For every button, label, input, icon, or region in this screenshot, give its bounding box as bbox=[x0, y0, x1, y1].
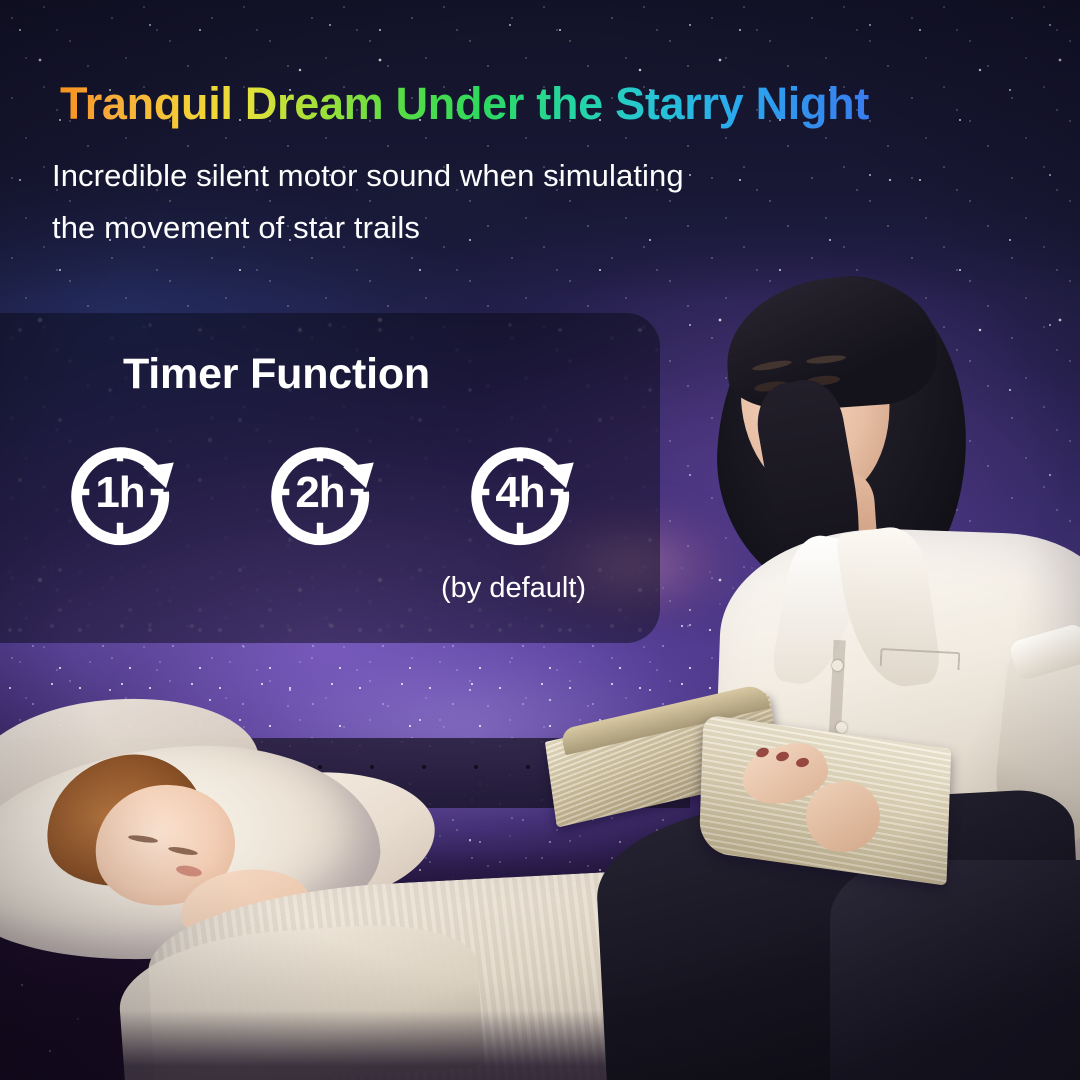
bed-shadow bbox=[0, 1010, 620, 1080]
timer-option-4h[interactable]: 4h bbox=[456, 428, 584, 556]
woman-lap-trousers-2 bbox=[830, 860, 1080, 1080]
timer-option-2h-label: 2h bbox=[256, 428, 384, 556]
subtitle-text: Incredible silent motor sound when simul… bbox=[52, 150, 912, 254]
woman-button-1 bbox=[832, 660, 843, 671]
product-feature-image: Tranquil Dream Under the Starry Night In… bbox=[0, 0, 1080, 1080]
timer-option-1h[interactable]: 1h bbox=[56, 428, 184, 556]
timer-options-row: 1h 2h 4h bbox=[0, 428, 660, 558]
timer-option-2h[interactable]: 2h bbox=[256, 428, 384, 556]
page-title: Tranquil Dream Under the Starry Night bbox=[60, 78, 869, 130]
default-timer-note: (by default) bbox=[441, 572, 586, 605]
timer-option-1h-label: 1h bbox=[56, 428, 184, 556]
woman-button-2 bbox=[836, 722, 847, 733]
timer-option-4h-label: 4h bbox=[456, 428, 584, 556]
subtitle-line-2: the movement of star trails bbox=[52, 202, 912, 254]
timer-panel-title: Timer Function bbox=[123, 350, 430, 399]
subtitle-line-1: Incredible silent motor sound when simul… bbox=[52, 150, 912, 202]
